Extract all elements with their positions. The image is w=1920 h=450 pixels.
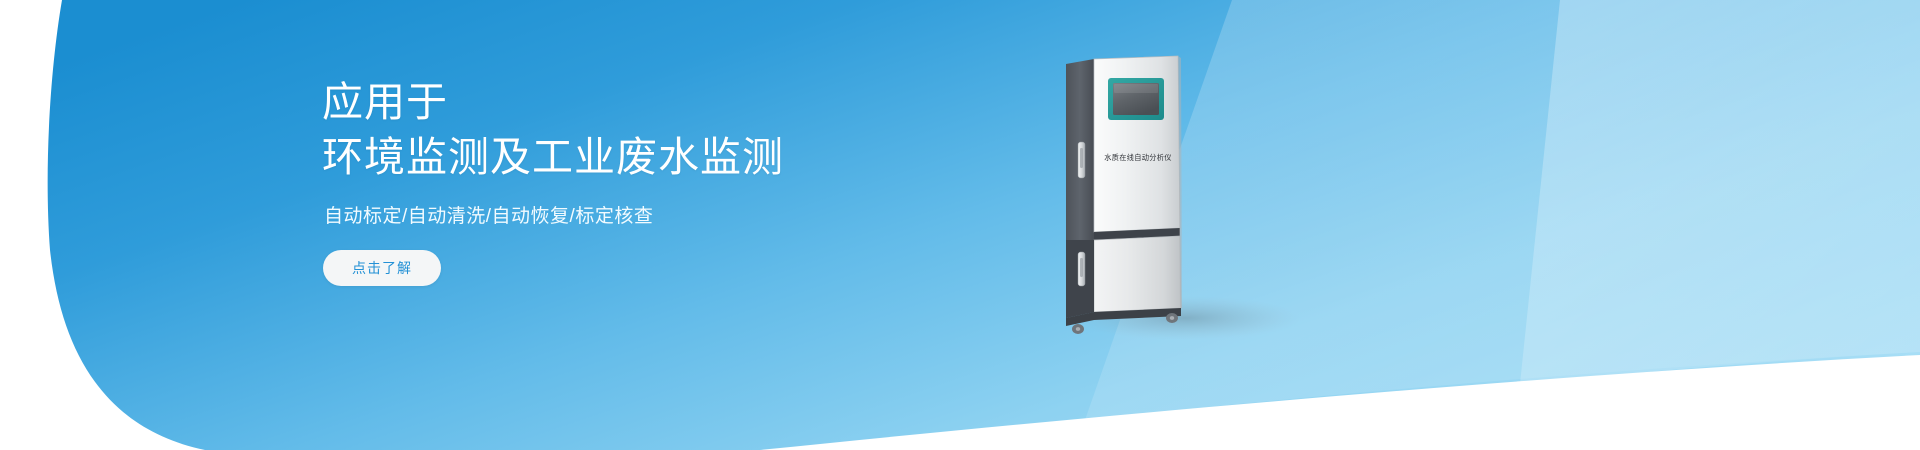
learn-more-button[interactable]: 点击了解 <box>323 250 441 286</box>
headline-line-1: 应用于 <box>322 75 784 130</box>
caster-right-hub <box>1170 316 1174 320</box>
upper-handle-slot <box>1080 148 1083 168</box>
hero-subtitle: 自动标定/自动清洗/自动恢复/标定核查 <box>324 204 653 230</box>
device-label: 水质在线自动分析仪 <box>1104 153 1171 162</box>
product-image: 水质在线自动分析仪 <box>1048 50 1248 340</box>
lower-handle-slot <box>1080 258 1083 277</box>
cabinet-lower-front <box>1094 236 1181 312</box>
diagonal-band-2 <box>1520 0 1920 384</box>
hero-banner: 应用于 环境监测及工业废水监测 自动标定/自动清洗/自动恢复/标定核查 点击了解 <box>0 0 1920 450</box>
caster-left-hub <box>1076 327 1080 331</box>
display-screen-glare <box>1114 84 1158 93</box>
headline-line-2: 环境监测及工业废水监测 <box>322 130 784 185</box>
page-title: 应用于 环境监测及工业废水监测 <box>322 75 784 185</box>
water-quality-analyzer-illustration: 水质在线自动分析仪 <box>1048 50 1248 340</box>
hero-content: 应用于 环境监测及工业废水监测 自动标定/自动清洗/自动恢复/标定核查 点击了解 <box>322 0 1022 450</box>
